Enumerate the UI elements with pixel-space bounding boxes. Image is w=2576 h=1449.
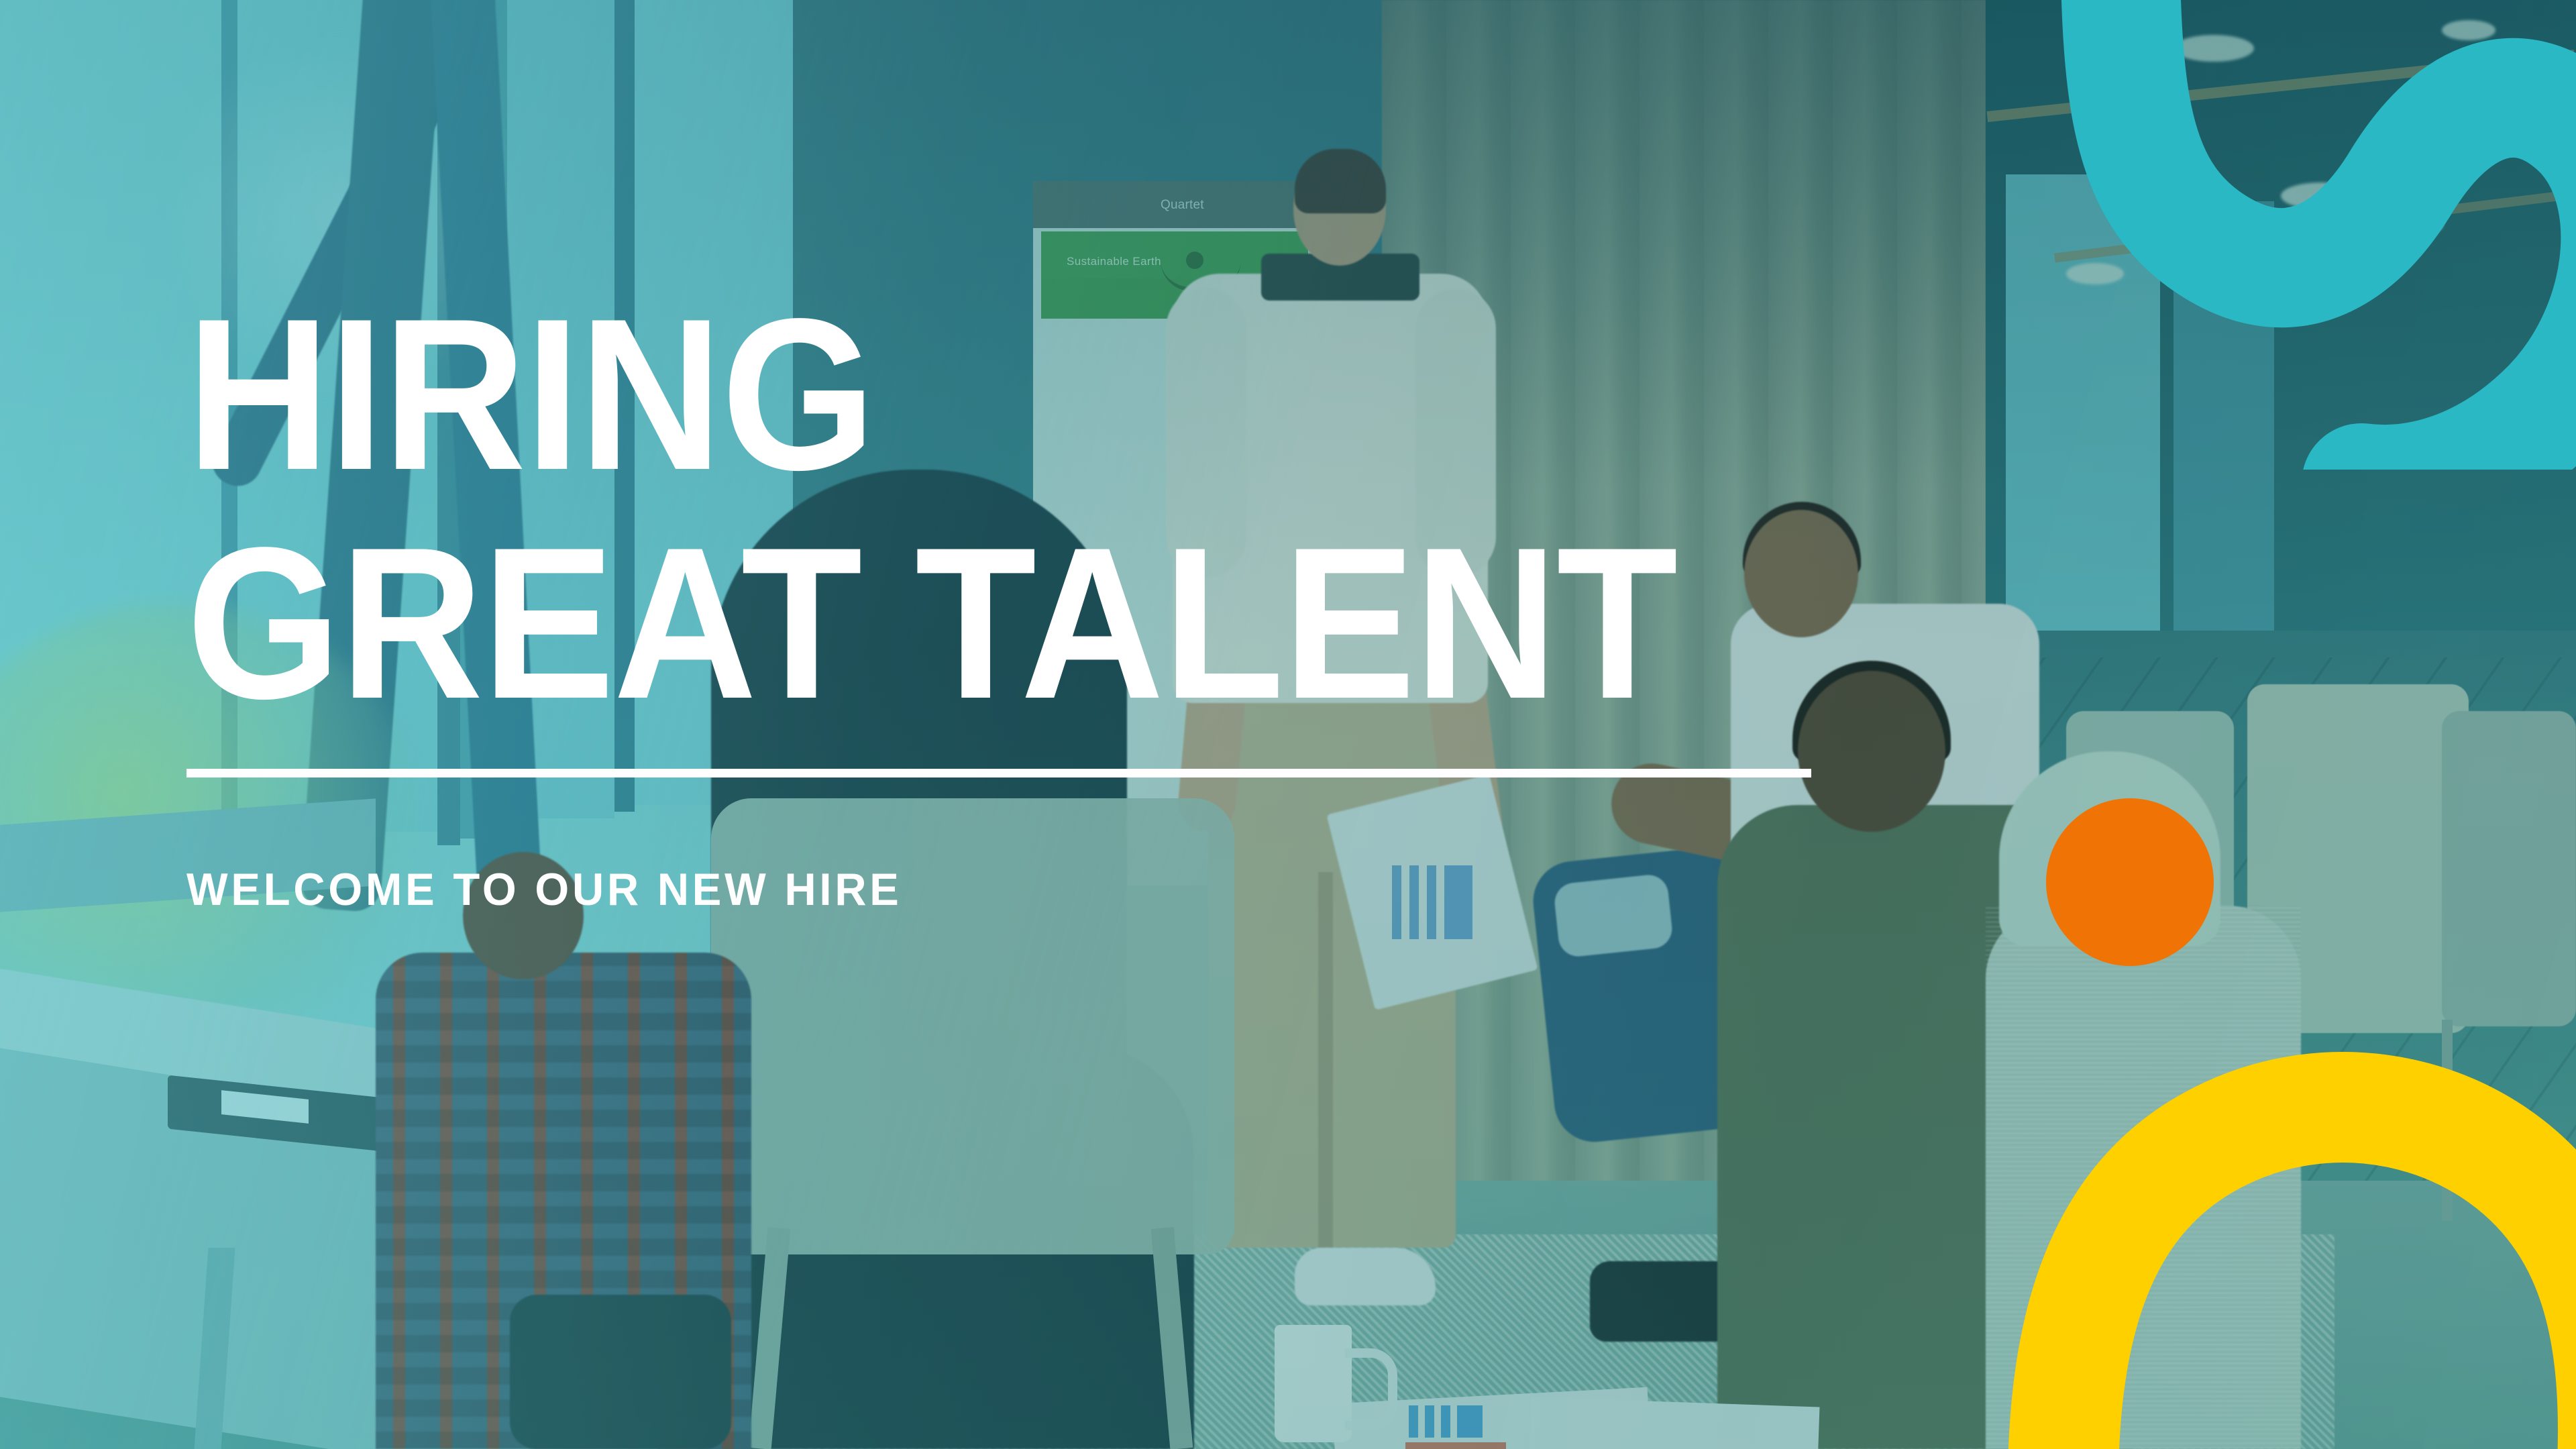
headline-line-2: GREAT TALENT (186, 517, 1766, 730)
orange-circle (2046, 798, 2214, 966)
divider-rule (186, 769, 1811, 777)
headline-line-1: HIRING (186, 288, 1766, 501)
banner-canvas: Quartet Sustainable Earth (0, 0, 2576, 1449)
text-block: HIRING GREAT TALENT WELCOME TO OUR NEW H… (186, 288, 1904, 916)
subtitle: WELCOME TO OUR NEW HIRE (186, 863, 1835, 916)
